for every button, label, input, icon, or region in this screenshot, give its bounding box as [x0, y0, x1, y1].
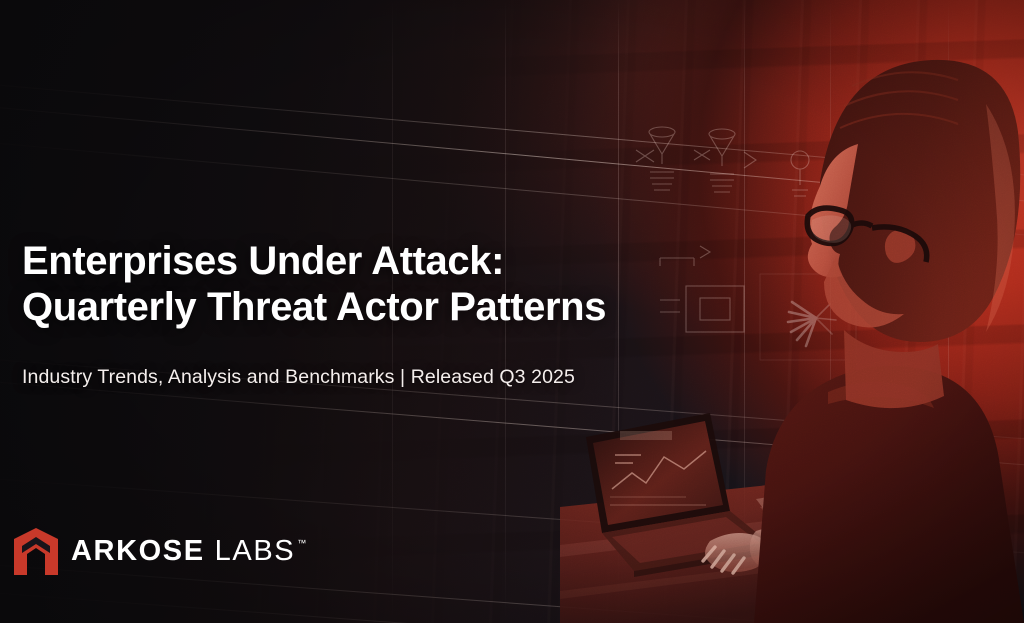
arkose-labs-wordmark: ARKOSE LABS ™	[71, 537, 306, 566]
report-cover-slide: Enterprises Under Attack: Quarterly Thre…	[0, 0, 1024, 623]
cover-content: Enterprises Under Attack: Quarterly Thre…	[0, 0, 1024, 623]
arkose-shield-chevron-icon	[14, 528, 58, 575]
page-title: Enterprises Under Attack: Quarterly Thre…	[22, 238, 722, 331]
logo-text-arkose: ARKOSE	[71, 537, 205, 566]
logo-trademark-symbol: ™	[297, 539, 306, 548]
logo-text-labs: LABS	[215, 537, 296, 566]
page-subtitle: Industry Trends, Analysis and Benchmarks…	[22, 366, 742, 389]
arkose-labs-logo: ARKOSE LABS ™	[14, 528, 306, 575]
